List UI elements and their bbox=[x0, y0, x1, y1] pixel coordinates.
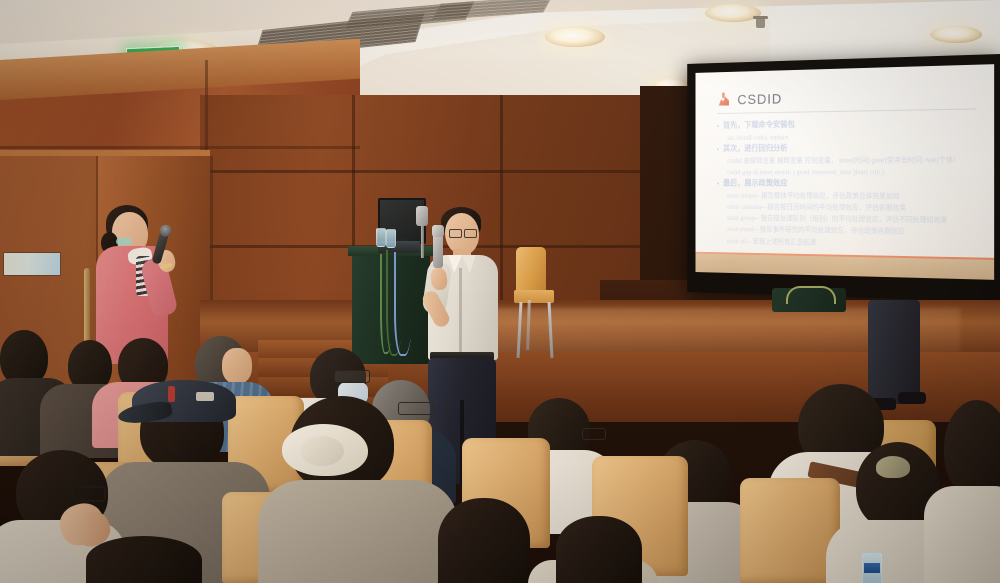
slide-body: 首先，下载命令安装包 ssc install csdid, replace 其次… bbox=[717, 116, 979, 251]
audience-head bbox=[438, 498, 530, 583]
slide-title: CSDID bbox=[737, 91, 782, 108]
ceiling-downlight bbox=[545, 27, 605, 47]
presenter-glasses-icon bbox=[449, 229, 477, 237]
standing-person-legs bbox=[868, 300, 920, 404]
auditorium-photo: CSDID 首先，下载命令安装包 ssc install csdid, repl… bbox=[0, 0, 1000, 583]
eyeglasses-icon bbox=[398, 402, 434, 415]
presenter-shirt-placket bbox=[459, 268, 462, 356]
audience-face bbox=[222, 348, 252, 384]
hair-bow bbox=[876, 456, 910, 478]
slide-bullet-line: csdid gdp dt,time( month ) gvar( treatme… bbox=[717, 166, 979, 177]
audience-body bbox=[258, 480, 458, 583]
sprinkler-head-icon bbox=[756, 18, 765, 28]
auditorium-seat[interactable] bbox=[740, 478, 840, 583]
projection-screen: CSDID 首先，下载命令安装包 ssc install csdid, repl… bbox=[687, 54, 1000, 302]
cap-accent bbox=[168, 386, 175, 402]
slide-bullet-heading: 其次，进行回归分析 bbox=[717, 141, 979, 155]
av-cable bbox=[394, 252, 412, 356]
slide-header: CSDID bbox=[717, 87, 977, 114]
audience-head bbox=[86, 536, 202, 583]
av-cable bbox=[380, 254, 392, 354]
wall-seam bbox=[0, 146, 360, 149]
cap-label bbox=[196, 392, 214, 401]
water-bottle bbox=[386, 229, 396, 248]
audience-head bbox=[944, 400, 1000, 496]
wall-seam bbox=[200, 170, 680, 173]
microphone-head-icon bbox=[416, 206, 428, 226]
handheld-microphone-icon bbox=[433, 232, 443, 268]
eyeglasses-icon bbox=[334, 370, 370, 383]
water-bottle[interactable] bbox=[862, 552, 882, 583]
ceiling-downlight bbox=[930, 26, 982, 43]
audience-head bbox=[556, 516, 642, 583]
water-bottle bbox=[376, 228, 386, 247]
ceiling-downlight bbox=[705, 4, 761, 22]
audience-body bbox=[924, 486, 1000, 583]
slide-bullet-line: csdid 被解释变量 解释变量 控制变量， time(时间) gvar(受冲击… bbox=[717, 154, 979, 166]
case-handle bbox=[786, 286, 836, 304]
door-window-panel bbox=[3, 252, 61, 276]
white-hair-bow-knot bbox=[300, 436, 344, 466]
eyeglasses-icon bbox=[582, 428, 606, 440]
mountain-logo-icon bbox=[717, 93, 730, 107]
questioner-hair-tie bbox=[116, 238, 132, 245]
slide-surface: CSDID 首先，下载命令安装包 ssc install csdid, repl… bbox=[695, 64, 994, 280]
stage-chair-back[interactable] bbox=[516, 247, 546, 295]
eyeglasses-icon bbox=[72, 486, 106, 502]
shoe bbox=[898, 392, 926, 404]
slide-bullet-heading: 最后，展示政策效应 bbox=[717, 178, 979, 190]
slide-bullet-line: estat simple--报告整体平均处理效应，评估政策总体效果如何 bbox=[717, 190, 979, 202]
